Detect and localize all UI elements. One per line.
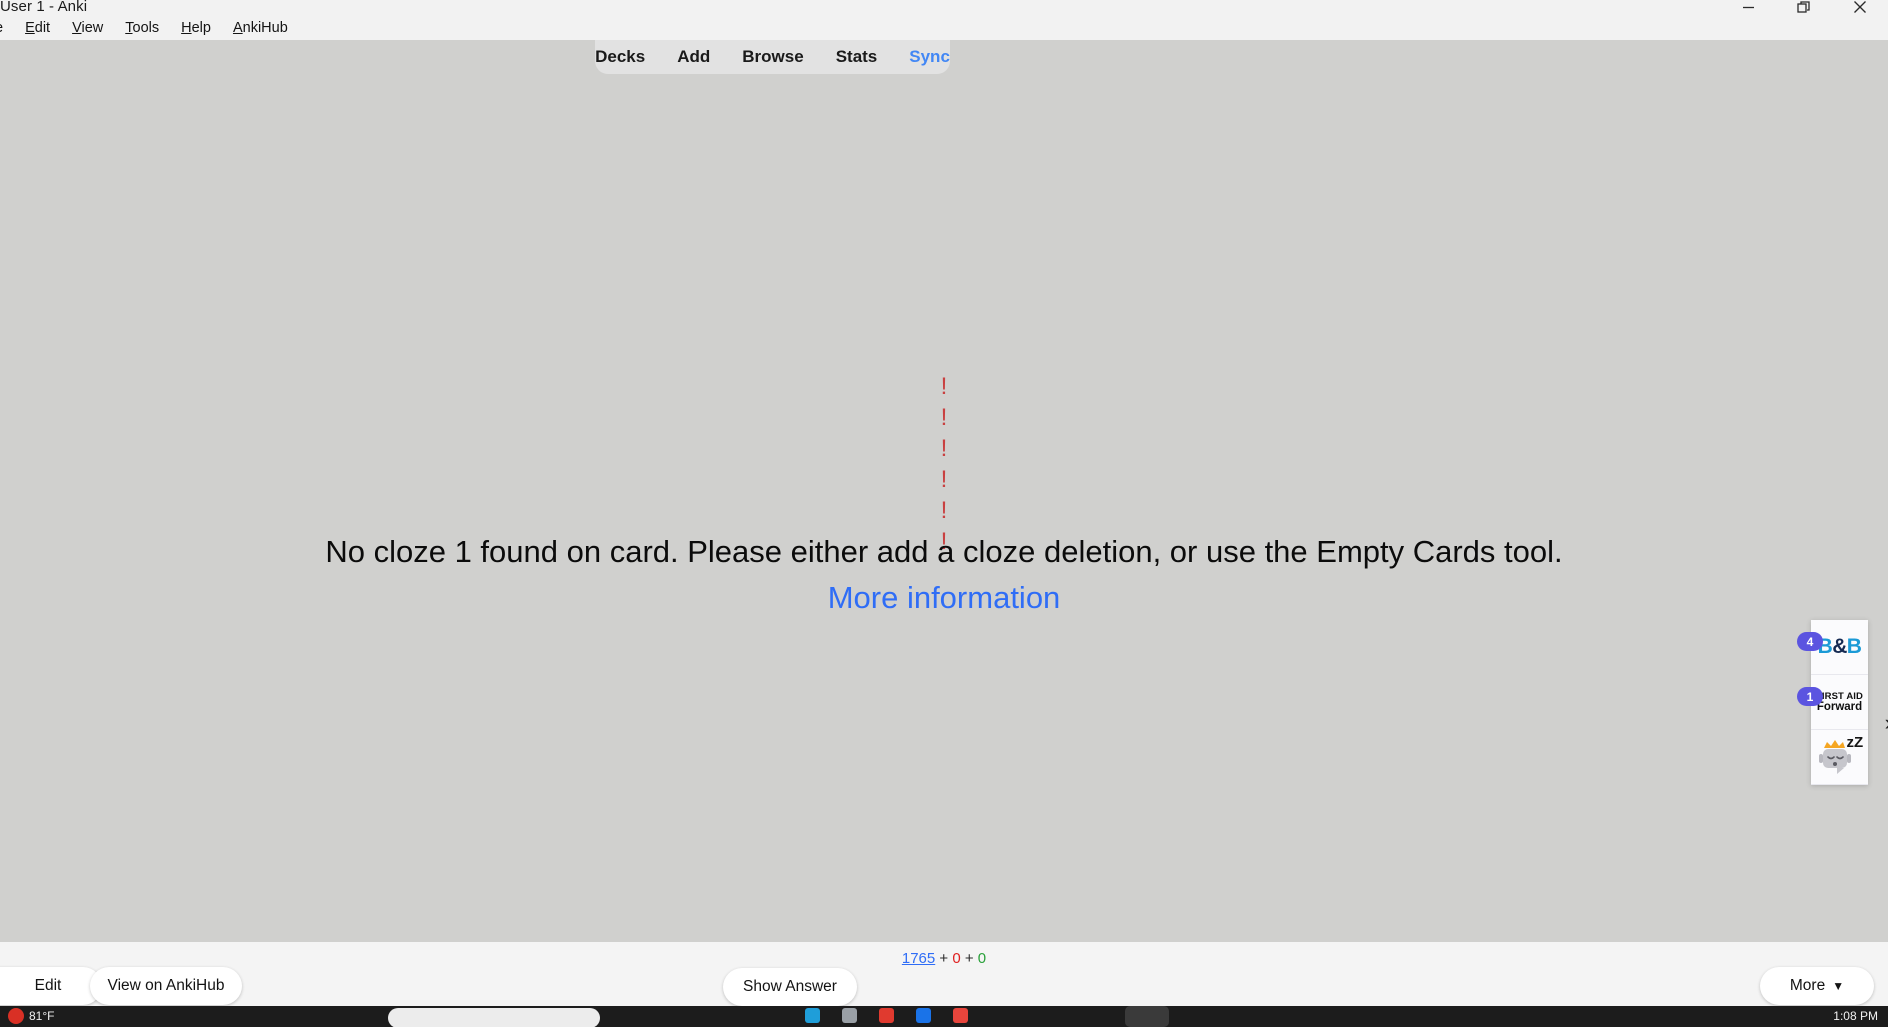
count-learning: 0: [952, 950, 960, 967]
bnb-b2: B: [1847, 635, 1862, 658]
anki-window: User 1 - Anki e Edit View Tools: [0, 0, 1888, 1027]
menu-label-file: e: [0, 20, 3, 36]
view-on-ankihub-button[interactable]: View on AnkiHub: [90, 967, 242, 1005]
edit-button[interactable]: Edit: [0, 967, 102, 1005]
warning-mark: !: [0, 402, 1888, 433]
bnb-logo-icon: B&B: [1818, 635, 1862, 659]
menu-label-tools: ools: [133, 20, 160, 36]
more-button-label: More: [1790, 977, 1825, 995]
dock-badge-bnb: 4: [1797, 632, 1823, 651]
dock-item-first-aid-forward[interactable]: 1 FIRST AID Forward: [1811, 675, 1868, 730]
warning-mark: !: [0, 371, 1888, 402]
menu-bar: e Edit View Tools Help AnkiHub: [0, 17, 1888, 41]
menu-item-file[interactable]: e: [0, 17, 14, 40]
dock-item-bnb[interactable]: 4 B&B: [1811, 620, 1868, 675]
card-counts: 1765 + 0 + 0: [0, 950, 1888, 967]
first-aid-line2: Forward: [1816, 702, 1863, 713]
menu-label-help: elp: [192, 20, 211, 36]
warning-mark: !: [0, 464, 1888, 495]
menu-label-edit: dit: [35, 20, 50, 36]
nav-sync[interactable]: Sync: [893, 40, 966, 74]
count-review: 0: [978, 950, 986, 967]
warning-mark: !: [0, 433, 1888, 464]
menu-item-tools[interactable]: Tools: [114, 17, 170, 40]
top-navigation: Decks Add Browse Stats Sync: [595, 40, 950, 74]
sleep-zz-text: zZ: [1847, 735, 1864, 750]
nav-add[interactable]: Add: [661, 40, 726, 74]
taskbar-icon-2[interactable]: [842, 1008, 857, 1023]
warning-mark: !: [0, 495, 1888, 526]
os-taskbar: 81°F 1:08 PM: [0, 1006, 1888, 1027]
menu-label-view: iew: [82, 20, 104, 36]
cloze-warning-marks: ! ! ! ! ! !: [0, 371, 1888, 557]
menu-item-view[interactable]: View: [61, 17, 114, 40]
card-display-area: ! ! ! ! ! ! No cloze 1 found on card. Pl…: [0, 74, 1888, 774]
taskbar-search-box[interactable]: [388, 1008, 600, 1027]
show-answer-button[interactable]: Show Answer: [723, 968, 857, 1006]
nav-decks[interactable]: Decks: [579, 40, 661, 74]
ankihub-side-dock: 4 B&B 1 FIRST AID Forward: [1811, 620, 1868, 785]
chevron-down-icon: ▼: [1832, 979, 1844, 993]
title-bar: User 1 - Anki: [0, 0, 1888, 17]
menu-item-edit[interactable]: Edit: [14, 17, 61, 40]
nav-browse[interactable]: Browse: [726, 40, 819, 74]
first-aid-forward-logo-icon: FIRST AID Forward: [1816, 691, 1863, 713]
taskbar-icon-3[interactable]: [879, 1008, 894, 1023]
cloze-error-message: No cloze 1 found on card. Please either …: [0, 534, 1888, 570]
sleeping-robot-icon: zZ: [1817, 737, 1863, 777]
dock-item-sleeping-robot[interactable]: zZ: [1811, 730, 1868, 785]
taskbar-icon-1[interactable]: [805, 1008, 820, 1023]
bottom-bar: 1765 + 0 + 0 Edit View on AnkiHub Show A…: [0, 942, 1888, 1006]
taskbar-clock[interactable]: 1:08 PM: [1833, 1009, 1878, 1023]
count-sep-1: +: [939, 950, 948, 967]
taskbar-app-icons: [805, 1008, 968, 1023]
taskbar-active-window[interactable]: [1125, 1006, 1169, 1027]
taskbar-icon-4[interactable]: [916, 1008, 931, 1023]
menu-label-ankihub: nkiHub: [243, 20, 288, 36]
menu-item-help[interactable]: Help: [170, 17, 222, 40]
menu-item-ankihub[interactable]: AnkiHub: [222, 17, 299, 40]
count-sep-2: +: [965, 950, 974, 967]
taskbar-weather-widget[interactable]: 81°F: [8, 1008, 54, 1024]
weather-temperature: 81°F: [29, 1009, 54, 1023]
dock-badge-first-aid: 1: [1797, 687, 1823, 706]
nav-stats[interactable]: Stats: [820, 40, 894, 74]
more-button[interactable]: More ▼: [1760, 967, 1874, 1005]
window-title: User 1 - Anki: [0, 0, 87, 15]
count-new[interactable]: 1765: [902, 950, 935, 967]
weather-icon: [8, 1008, 24, 1024]
bnb-amp: &: [1832, 635, 1847, 658]
main-content: Decks Add Browse Stats Sync ! ! ! ! ! ! …: [0, 40, 1888, 942]
taskbar-icon-5[interactable]: [953, 1008, 968, 1023]
more-information-link[interactable]: More information: [0, 580, 1888, 616]
